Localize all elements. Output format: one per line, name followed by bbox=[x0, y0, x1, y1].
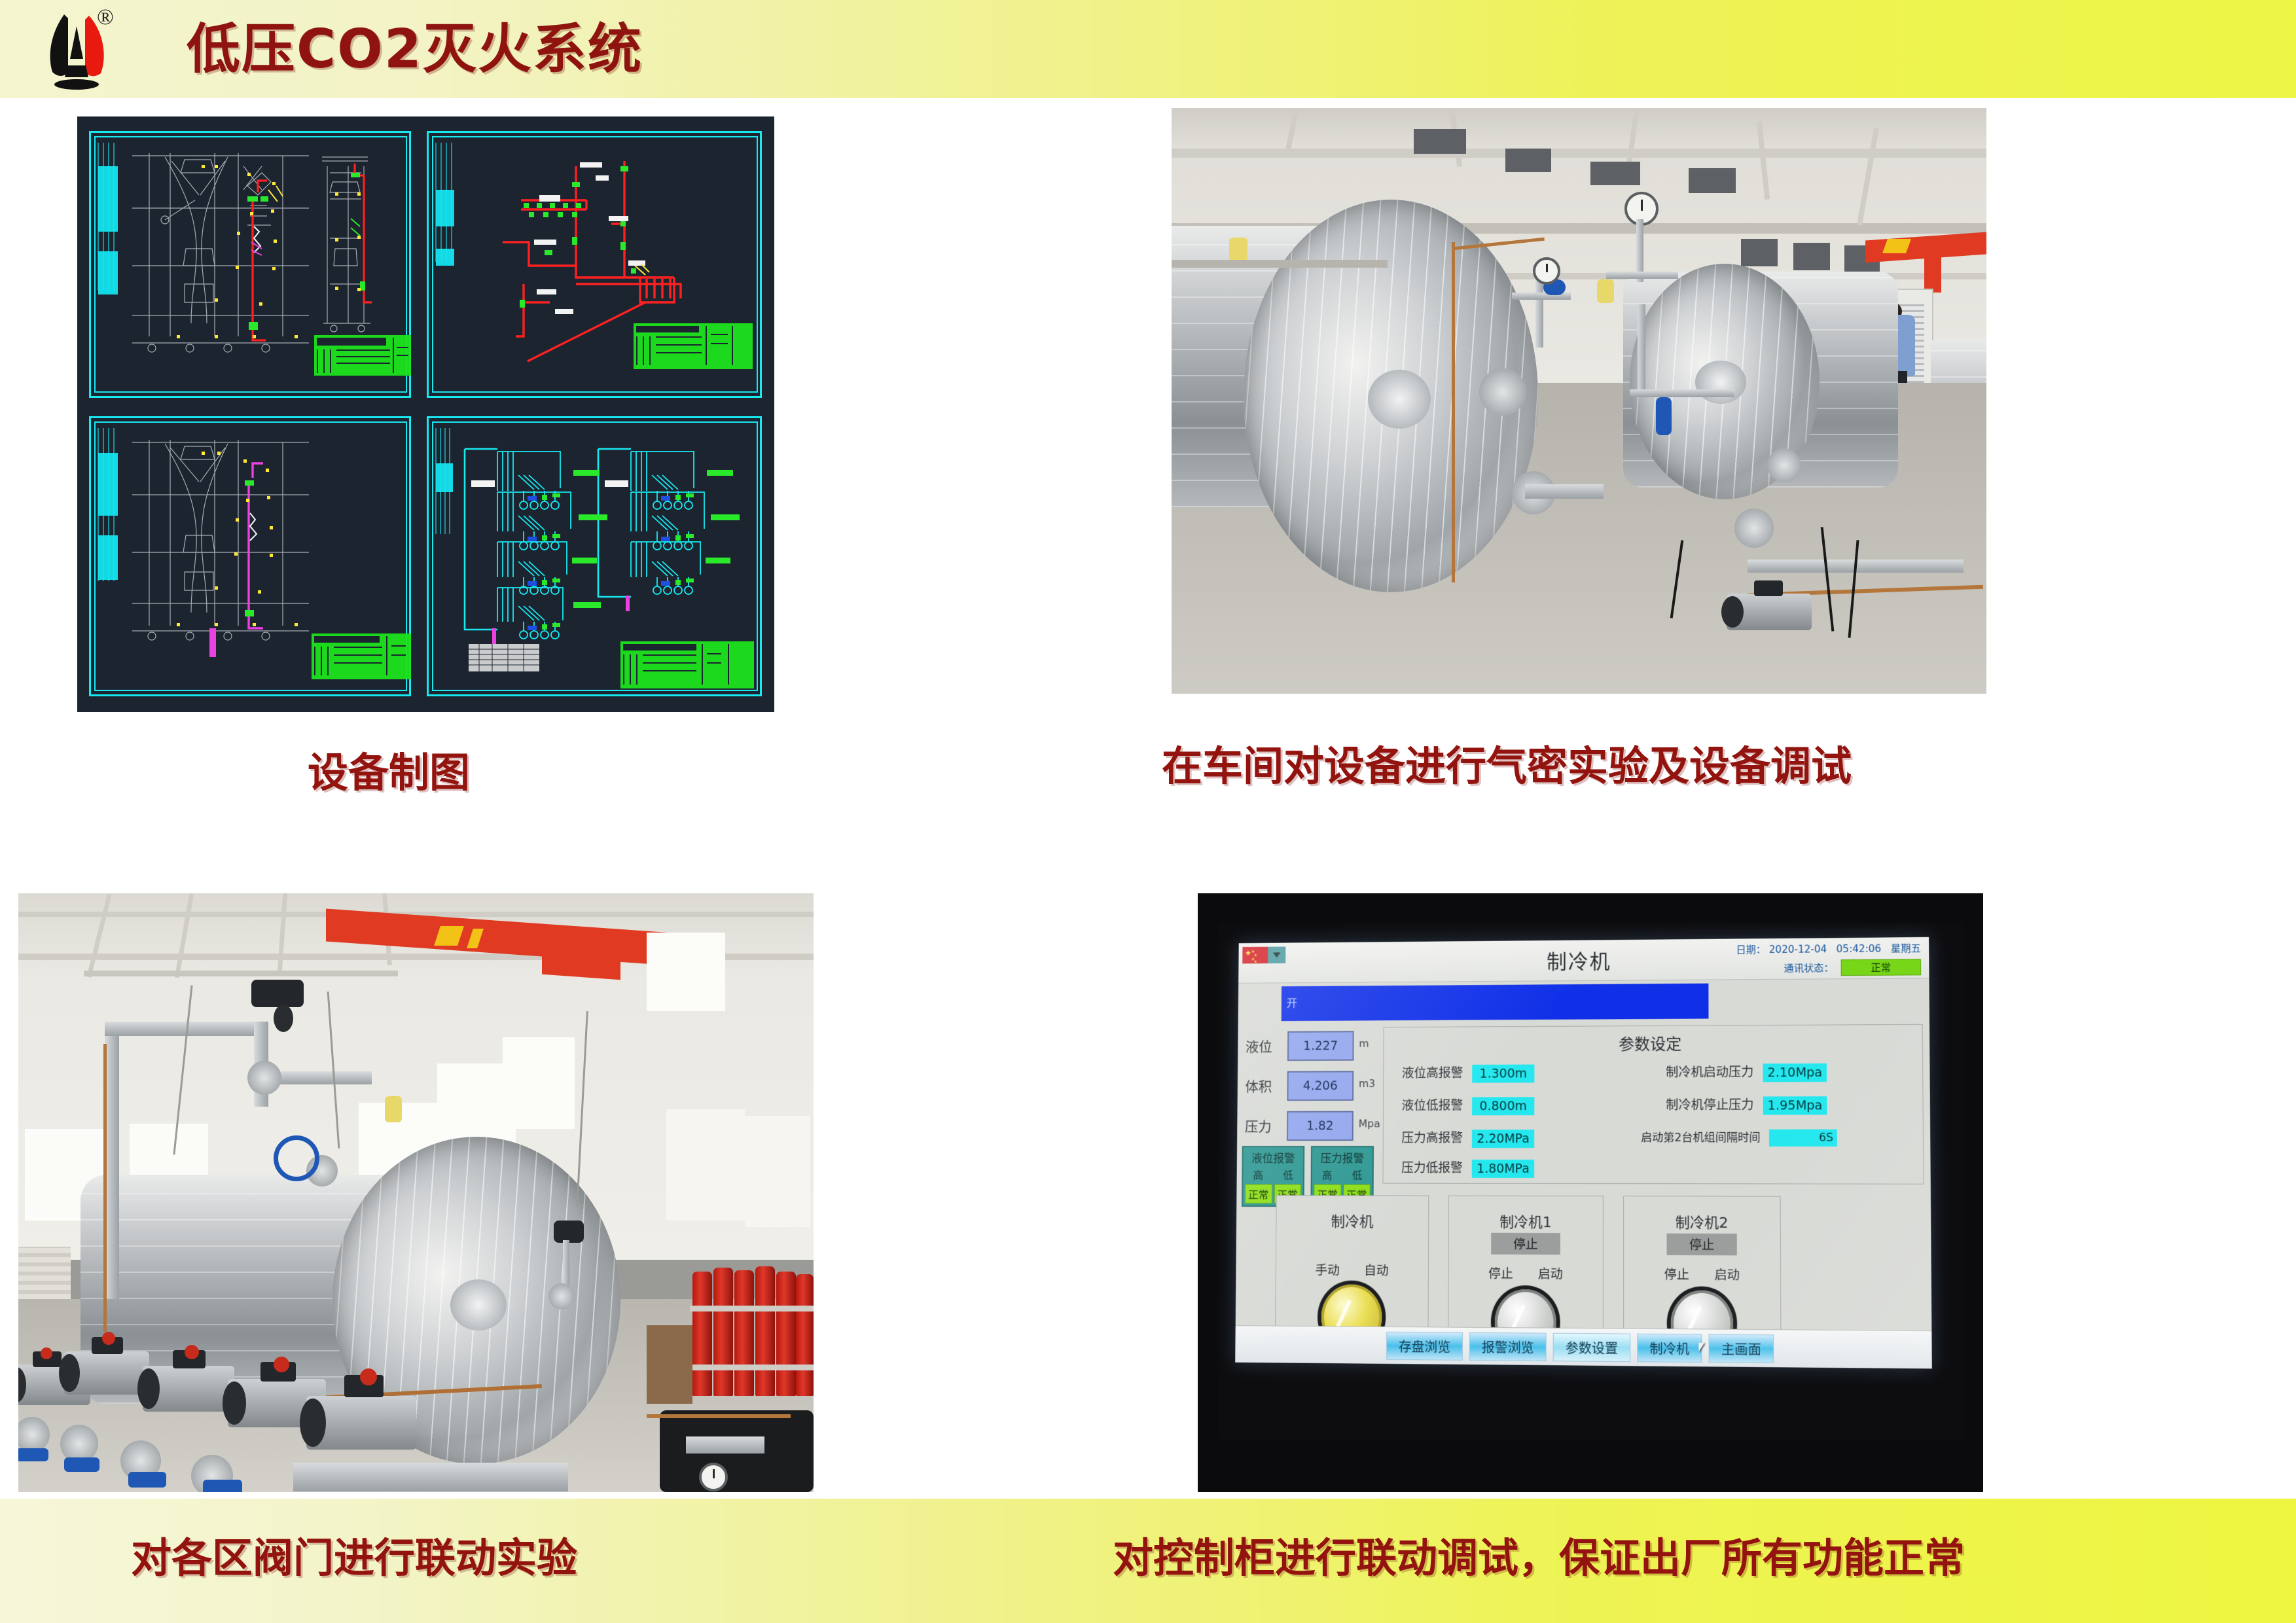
pallet-stack bbox=[647, 1325, 692, 1404]
page-title: 低压CO2灭火系统 bbox=[187, 14, 643, 85]
handwheel-valve bbox=[274, 1135, 319, 1181]
cylinder-strap bbox=[690, 1364, 814, 1370]
nav-button-chiller[interactable]: 制冷机 bbox=[1637, 1333, 1702, 1362]
readout-label: 液位 bbox=[1246, 1037, 1272, 1056]
param-value[interactable]: 0.800m bbox=[1472, 1097, 1534, 1115]
cad-titleblock bbox=[620, 641, 754, 688]
param-value[interactable]: 1.300m bbox=[1472, 1064, 1534, 1082]
alarm-sub-high: 高 bbox=[1322, 1167, 1333, 1183]
nav-button-archive-browse[interactable]: 存盘浏览 bbox=[1386, 1331, 1463, 1360]
param-value[interactable]: 1.95Mpa bbox=[1763, 1096, 1827, 1115]
cylinder-strap bbox=[690, 1306, 814, 1311]
nav-button-alarm-browse[interactable]: 报警浏览 bbox=[1469, 1332, 1547, 1361]
cad-quadrant-piping-schematic bbox=[424, 127, 764, 402]
param-label: 制冷机停止压力 bbox=[1666, 1098, 1753, 1113]
time-value: 05:42:06 bbox=[1837, 943, 1882, 955]
nav-button-main-screen[interactable]: 主画面 bbox=[1709, 1334, 1774, 1363]
control-title: 制冷机2 bbox=[1624, 1211, 1780, 1232]
control-title: 制冷机1 bbox=[1449, 1211, 1603, 1232]
control-label-right: 启动 bbox=[1714, 1265, 1740, 1283]
header-band: ® 低压CO2灭火系统 bbox=[0, 0, 2296, 98]
readout-row: 压力 1.82 Mpa bbox=[1242, 1107, 1376, 1147]
param-value[interactable]: 6S bbox=[1769, 1130, 1837, 1147]
readout-value: 1.82 bbox=[1287, 1111, 1354, 1141]
nav-button-parameter-settings[interactable]: 参数设置 bbox=[1553, 1332, 1631, 1361]
control-state-badge: 停止 bbox=[1491, 1233, 1560, 1255]
alarm-sub-low: 低 bbox=[1352, 1167, 1363, 1183]
readout-value: 1.227 bbox=[1287, 1031, 1354, 1061]
hmi-parameter-panel: 参数设定 液位高报警 1.300m 液位低报警 0.800m 压力高报警 2.2… bbox=[1382, 1024, 1924, 1185]
photo-control-cabinet-hmi: ★ ★ ★ ★ ★ 制冷机 日期： 2020-12-04 05:42:06 星期… bbox=[1198, 893, 1983, 1492]
cad-titleblock bbox=[314, 335, 411, 376]
param-value[interactable]: 1.80MPa bbox=[1472, 1159, 1534, 1177]
readout-unit: m3 bbox=[1359, 1077, 1375, 1090]
control-state-badge: 停止 bbox=[1667, 1234, 1737, 1256]
param-label: 液位高报警 bbox=[1402, 1066, 1463, 1080]
param-label: 启动第2台机组间隔时间 bbox=[1641, 1132, 1761, 1145]
readout-row: 体积 4.206 m3 bbox=[1242, 1067, 1376, 1107]
caption-cad: 设备制图 bbox=[308, 740, 470, 798]
param-label: 制冷机启动压力 bbox=[1666, 1065, 1753, 1079]
weekday-value: 星期五 bbox=[1891, 942, 1921, 954]
cad-quadrant-control-wiring bbox=[424, 412, 764, 700]
control-title: 制冷机 bbox=[1276, 1210, 1428, 1231]
param-row: 制冷机停止压力 1.95Mpa bbox=[1666, 1095, 1827, 1115]
readout-unit: Mpa bbox=[1359, 1117, 1380, 1130]
insulation-tape bbox=[1597, 279, 1614, 303]
hmi-nav-bar: 存盘浏览 报警浏览 参数设置 制冷机 主画面 bbox=[1235, 1325, 1932, 1368]
param-row: 启动第2台机组间隔时间 6S bbox=[1641, 1128, 1837, 1147]
readout-row: 液位 1.227 m bbox=[1243, 1027, 1377, 1067]
cad-titleblock bbox=[312, 633, 411, 679]
cad-titleblock bbox=[634, 323, 753, 369]
caption-hmi-front: 对控制柜进行联动调试，保证出厂所有功能正常 bbox=[1113, 1525, 1965, 1584]
readout-label: 体积 bbox=[1245, 1077, 1272, 1096]
param-value[interactable]: 2.10Mpa bbox=[1763, 1063, 1827, 1081]
alarm-state-high: 正常 bbox=[1245, 1184, 1272, 1204]
caption-valves-front: 对各区阀门进行联动实验 bbox=[131, 1525, 577, 1584]
date-value: 2020-12-04 bbox=[1769, 943, 1827, 955]
photo-workshop-tanks bbox=[1172, 108, 1986, 694]
hmi-readout-column: 液位 1.227 m 体积 4.206 m3 压力 1.82 Mpa bbox=[1242, 1027, 1377, 1147]
hmi-banner: 开 bbox=[1282, 984, 1709, 1022]
param-row: 液位高报警 1.300m bbox=[1402, 1063, 1535, 1083]
comm-label: 通讯状态： bbox=[1784, 962, 1834, 974]
registered-trademark-icon: ® bbox=[97, 5, 114, 30]
hmi-top-bar: ★ ★ ★ ★ ★ 制冷机 日期： 2020-12-04 05:42:06 星期… bbox=[1238, 937, 1929, 984]
alarm-sub-high: 高 bbox=[1253, 1167, 1263, 1183]
alarm-sub-low: 低 bbox=[1283, 1167, 1293, 1183]
param-row: 液位低报警 0.800m bbox=[1402, 1096, 1535, 1115]
param-row: 制冷机启动压力 2.10Mpa bbox=[1666, 1062, 1827, 1082]
caption-tanks: 在车间对设备进行气密实验及设备调试 bbox=[1162, 733, 1852, 792]
param-label: 压力低报警 bbox=[1401, 1161, 1463, 1175]
cad-quadrant-equipment-elevation bbox=[86, 127, 414, 402]
param-label: 液位低报警 bbox=[1402, 1099, 1463, 1113]
hmi-comm-status-row: 通讯状态： 正常 bbox=[1784, 959, 1922, 976]
comm-status-badge: 正常 bbox=[1841, 959, 1922, 976]
parameter-panel-title: 参数设定 bbox=[1384, 1030, 1922, 1056]
control-label-right: 启动 bbox=[1538, 1264, 1563, 1282]
readout-label: 压力 bbox=[1245, 1116, 1272, 1136]
cad-drawing-panel bbox=[77, 116, 774, 712]
param-row: 压力高报警 2.20MPa bbox=[1401, 1128, 1534, 1147]
readout-value: 4.206 bbox=[1287, 1071, 1354, 1101]
date-label: 日期： bbox=[1736, 944, 1766, 955]
photo-zone-valves bbox=[18, 893, 814, 1492]
insulation-tape bbox=[385, 1096, 402, 1122]
param-label: 压力高报警 bbox=[1401, 1131, 1463, 1145]
param-value[interactable]: 2.20MPa bbox=[1472, 1130, 1534, 1148]
hmi-datetime: 日期： 2020-12-04 05:42:06 星期五 bbox=[1736, 941, 1921, 956]
control-label-left: 停止 bbox=[1664, 1265, 1689, 1283]
cad-quadrant-equipment-section bbox=[86, 412, 414, 700]
readout-unit: m bbox=[1359, 1037, 1369, 1050]
param-row: 压力低报警 1.80MPa bbox=[1401, 1158, 1534, 1178]
control-label-left: 停止 bbox=[1488, 1264, 1513, 1282]
alarm-group-title: 液位报警 bbox=[1244, 1149, 1304, 1166]
hmi-screen[interactable]: ★ ★ ★ ★ ★ 制冷机 日期： 2020-12-04 05:42:06 星期… bbox=[1235, 937, 1932, 1368]
alarm-group-title: 压力报警 bbox=[1312, 1149, 1372, 1166]
cad-riser-marker bbox=[209, 628, 216, 657]
control-label-right: 自动 bbox=[1364, 1261, 1389, 1279]
control-label-left: 手动 bbox=[1315, 1261, 1339, 1279]
